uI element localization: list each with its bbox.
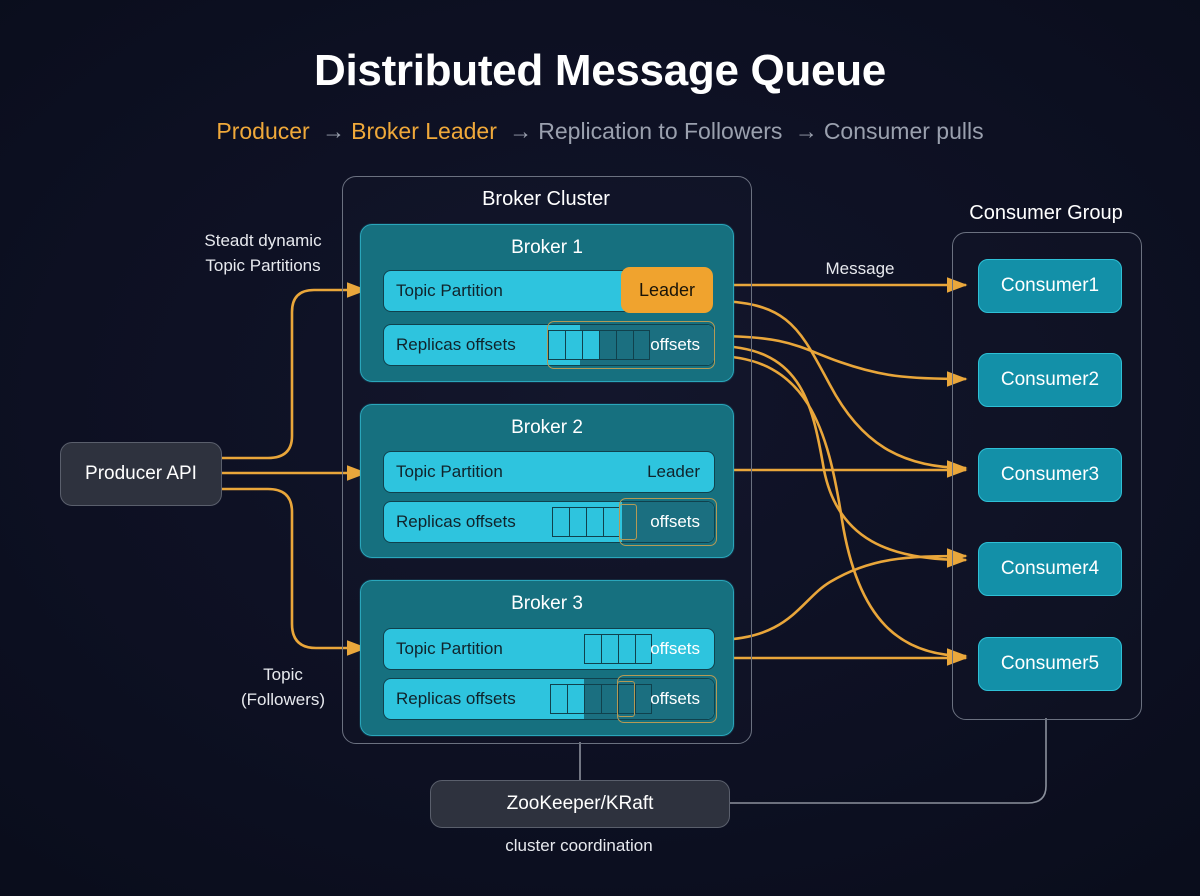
cell bbox=[601, 684, 618, 714]
consumer-group-title: Consumer Group bbox=[952, 202, 1140, 225]
cell bbox=[599, 330, 616, 360]
consumer-box-5-label: Consumer5 bbox=[1001, 653, 1099, 675]
consumer-box-2-label: Consumer2 bbox=[1001, 369, 1099, 391]
broker2-replicas-bar[interactable]: Replicas offsets offsets bbox=[383, 501, 715, 543]
broker1-leader-badge-label: Leader bbox=[639, 280, 695, 301]
consumer-box-3-label: Consumer3 bbox=[1001, 464, 1099, 486]
broker3-topic-partition-label: Topic Partition bbox=[396, 639, 503, 659]
flow-step: Consumer pulls bbox=[824, 118, 984, 144]
broker-card-1[interactable]: Broker 1 Topic Partition Leader Replicas… bbox=[360, 224, 734, 382]
broker-cluster-title: Broker Cluster bbox=[342, 188, 750, 211]
flow-step: Broker Leader bbox=[351, 118, 497, 144]
broker3-topic-partition-bar[interactable]: Topic Partition offsets bbox=[383, 628, 715, 670]
broker1-replicas-label: Replicas offsets bbox=[396, 335, 516, 355]
broker2-leader-label: Leader bbox=[647, 462, 700, 482]
cell bbox=[567, 684, 584, 714]
annotation-steady-dynamic: Steadt dynamic Topic Partitions bbox=[170, 228, 356, 278]
broker3-replicas-bar[interactable]: Replicas offsets offsets bbox=[383, 678, 715, 720]
page-title: Distributed Message Queue bbox=[0, 46, 1200, 96]
cell bbox=[552, 507, 569, 537]
consumer-box-1-label: Consumer1 bbox=[1001, 275, 1099, 297]
cell bbox=[565, 330, 582, 360]
broker2-topic-partition-bar[interactable]: Topic Partition Leader bbox=[383, 451, 715, 493]
cell bbox=[550, 684, 567, 714]
broker2-replica-cells bbox=[552, 507, 620, 537]
diagram-canvas: Distributed Message Queue Producer →Brok… bbox=[0, 0, 1200, 896]
broker3-replicas-label: Replicas offsets bbox=[396, 689, 516, 709]
consumer-box-2[interactable]: Consumer2 bbox=[978, 353, 1122, 407]
broker1-replicas-offsets-label: offsets bbox=[650, 335, 700, 355]
zookeeper-box[interactable]: ZooKeeper/KRaft bbox=[430, 780, 730, 828]
broker1-topic-partition-label: Topic Partition bbox=[396, 281, 503, 301]
link-zookeeper-consumergroup bbox=[728, 718, 1046, 803]
broker-card-3[interactable]: Broker 3 Topic Partition offsets Replica bbox=[360, 580, 734, 736]
broker1-leader-badge[interactable]: Leader bbox=[621, 267, 713, 313]
consumer-box-4[interactable]: Consumer4 bbox=[978, 542, 1122, 596]
zookeeper-caption: cluster coordination bbox=[430, 836, 728, 856]
broker3-topic-cells bbox=[584, 634, 652, 664]
broker-card-3-title: Broker 3 bbox=[361, 593, 733, 615]
consumer-box-1[interactable]: Consumer1 bbox=[978, 259, 1122, 313]
cell bbox=[548, 330, 565, 360]
consumer-box-5[interactable]: Consumer5 bbox=[978, 637, 1122, 691]
cell bbox=[584, 634, 601, 664]
cell bbox=[603, 507, 620, 537]
broker-card-2-title: Broker 2 bbox=[361, 417, 733, 439]
broker3-replicas-offsets-label: offsets bbox=[650, 689, 700, 709]
annotation-message: Message bbox=[780, 256, 940, 281]
broker2-topic-partition-label: Topic Partition bbox=[396, 462, 503, 482]
producer-api-box[interactable]: Producer API bbox=[60, 442, 222, 506]
broker-card-1-title: Broker 1 bbox=[361, 237, 733, 259]
broker1-replicas-bar[interactable]: Replicas offsets offsets bbox=[383, 324, 715, 366]
producer-api-label: Producer API bbox=[85, 463, 197, 485]
broker-card-2[interactable]: Broker 2 Topic Partition Leader Replicas… bbox=[360, 404, 734, 558]
cell bbox=[586, 507, 603, 537]
cell bbox=[616, 330, 633, 360]
zookeeper-label: ZooKeeper/KRaft bbox=[507, 793, 654, 815]
flow-step: Replication to Followers bbox=[538, 118, 782, 144]
cell bbox=[618, 684, 635, 714]
flow-subtitle: Producer →Broker Leader →Replication to … bbox=[0, 118, 1200, 145]
flow-step: Producer bbox=[216, 118, 309, 144]
flow-arrow: → bbox=[316, 118, 351, 144]
cell bbox=[618, 634, 635, 664]
cell bbox=[633, 330, 650, 360]
flow-arrow: → bbox=[503, 118, 538, 144]
consumer-box-4-label: Consumer4 bbox=[1001, 558, 1099, 580]
broker3-topic-offsets-label: offsets bbox=[650, 639, 700, 659]
broker1-replica-cells bbox=[548, 330, 650, 360]
cell bbox=[584, 684, 601, 714]
broker2-replicas-offsets-label: offsets bbox=[650, 512, 700, 532]
consumer-box-3[interactable]: Consumer3 bbox=[978, 448, 1122, 502]
cell bbox=[569, 507, 586, 537]
broker2-replicas-label: Replicas offsets bbox=[396, 512, 516, 532]
flow-arrow: → bbox=[789, 118, 824, 144]
cell bbox=[582, 330, 599, 360]
broker3-replica-cells bbox=[550, 684, 652, 714]
cell bbox=[601, 634, 618, 664]
